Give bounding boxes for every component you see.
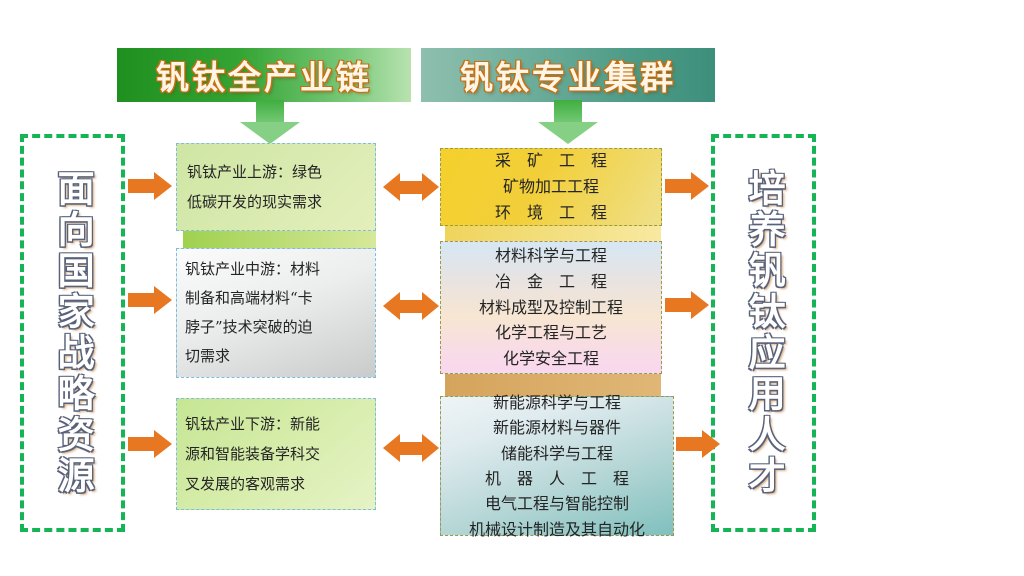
arrow-head-right xyxy=(422,292,439,320)
side-box-national-strategy: 面向国家战略资源 xyxy=(20,134,125,532)
double-headed-arrow-icon xyxy=(383,173,439,202)
right-arrow-icon xyxy=(665,172,711,200)
arrow-shaft xyxy=(398,300,424,313)
arrow-shaft xyxy=(128,293,156,307)
diagram-canvas: 钒钛全产业链 钒钛专业集群 面向国家战略资源 培养钒钛应用人才 钒钛产业上游：绿… xyxy=(0,0,1024,576)
arrow-shaft xyxy=(676,437,704,451)
card-line: 新能源科学与工程 xyxy=(493,390,621,415)
card-line: 源和智能装备学科交 xyxy=(185,439,320,469)
side-box-left-label: 面向国家战略资源 xyxy=(53,169,92,497)
arrow-head xyxy=(154,286,172,314)
card-cluster-new-energy: 新能源科学与工程 新能源材料与器件 储能科学与工程 机 器 人 工 程 电气工程… xyxy=(440,396,674,536)
card-line: 脖子”技术突破的迫 xyxy=(185,313,313,342)
card-line: 化学安全工程 xyxy=(503,346,599,372)
card-line: 矿物加工工程 xyxy=(503,174,599,200)
card-line: 采 矿 工 程 xyxy=(495,148,607,174)
arrow-head xyxy=(691,291,709,319)
card-line: 机械设计制造及其自动化 xyxy=(469,517,645,542)
banner-industry-chain-label: 钒钛全产业链 xyxy=(156,51,372,99)
arrow-head xyxy=(702,430,720,458)
arrow-head xyxy=(154,172,172,200)
banner-industry-chain: 钒钛全产业链 xyxy=(117,48,411,102)
card-line: 环 境 工 程 xyxy=(495,200,607,226)
double-headed-arrow-icon xyxy=(383,292,439,321)
down-arrow-head xyxy=(538,122,598,144)
card-line: 化学工程与工艺 xyxy=(495,320,607,346)
arrow-shaft xyxy=(398,181,424,194)
arrow-head-right xyxy=(422,173,439,201)
right-arrow-icon xyxy=(128,286,174,314)
down-arrow-icon xyxy=(538,100,598,144)
double-headed-arrow-icon xyxy=(383,434,439,463)
card-line: 钒钛产业下游：新能 xyxy=(185,409,320,439)
card-line: 制备和高端材料“卡 xyxy=(185,284,313,313)
arrow-shaft xyxy=(128,437,156,451)
arrow-shaft xyxy=(128,179,156,193)
card-line: 钒钛产业上游：绿色 xyxy=(187,157,322,187)
arrow-head xyxy=(691,172,709,200)
card-cluster-mining: 采 矿 工 程 矿物加工工程 环 境 工 程 xyxy=(440,148,662,226)
arrow-shaft xyxy=(665,298,693,312)
down-arrow-head xyxy=(240,122,300,144)
arrow-head-right xyxy=(422,434,439,462)
card-industry-upstream: 钒钛产业上游：绿色 低碳开发的现实需求 xyxy=(176,143,376,231)
card-cluster-materials: 材料科学与工程 冶 金 工 程 材料成型及控制工程 化学工程与工艺 化学安全工程 xyxy=(440,241,662,374)
card-line: 低碳开发的现实需求 xyxy=(187,187,322,217)
arrow-head xyxy=(154,430,172,458)
card-line: 叉发展的客观需求 xyxy=(185,469,305,499)
card-line: 材料成型及控制工程 xyxy=(479,295,623,321)
side-box-right-label: 培养钒钛应用人才 xyxy=(744,169,783,497)
card-line: 钒钛产业中游：材料 xyxy=(185,255,320,284)
side-box-talent-cultivation: 培养钒钛应用人才 xyxy=(711,134,816,532)
down-arrow-icon xyxy=(240,100,300,144)
card-industry-midstream: 钒钛产业中游：材料 制备和高端材料“卡 脖子”技术突破的迫 切需求 xyxy=(176,248,376,378)
right-arrow-icon xyxy=(128,430,174,458)
right-arrow-icon xyxy=(676,430,722,458)
card-industry-downstream: 钒钛产业下游：新能 源和智能装备学科交 叉发展的客观需求 xyxy=(176,398,376,510)
card-line: 切需求 xyxy=(185,342,230,371)
card-line: 新能源材料与器件 xyxy=(493,415,621,440)
down-arrow-shaft xyxy=(554,100,582,122)
right-arrow-icon xyxy=(665,291,711,319)
card-line: 电气工程与智能控制 xyxy=(485,491,629,516)
banner-major-cluster-label: 钒钛专业集群 xyxy=(460,51,676,99)
card-line: 储能科学与工程 xyxy=(501,441,613,466)
arrow-shaft xyxy=(398,442,424,455)
banner-major-cluster: 钒钛专业集群 xyxy=(421,48,715,102)
card-line: 冶 金 工 程 xyxy=(495,269,607,295)
down-arrow-shaft xyxy=(256,100,284,122)
card-line: 材料科学与工程 xyxy=(495,243,607,269)
arrow-shaft xyxy=(665,179,693,193)
right-arrow-icon xyxy=(128,172,174,200)
card-line: 机 器 人 工 程 xyxy=(485,466,629,491)
